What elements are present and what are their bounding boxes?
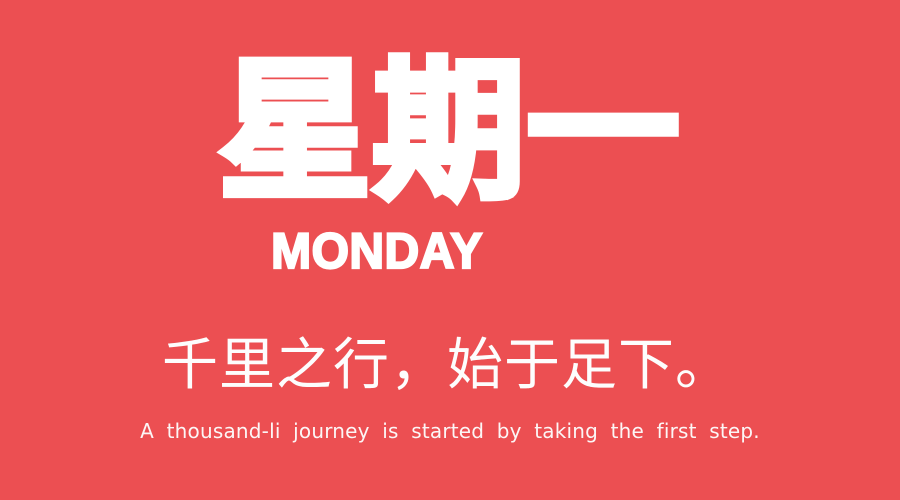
weekday-title-cjk: 星期一 <box>0 44 900 220</box>
weekday-title-latin: MONDAY <box>18 224 882 278</box>
proverb-text-english: A thousand-li journey is started by taki… <box>0 415 900 447</box>
daily-quote-card: 星期一 MONDAY 千里之行，始于足下。 A thousand-li jour… <box>0 0 900 500</box>
proverb-text-cjk: 千里之行，始于足下。 <box>0 330 900 402</box>
